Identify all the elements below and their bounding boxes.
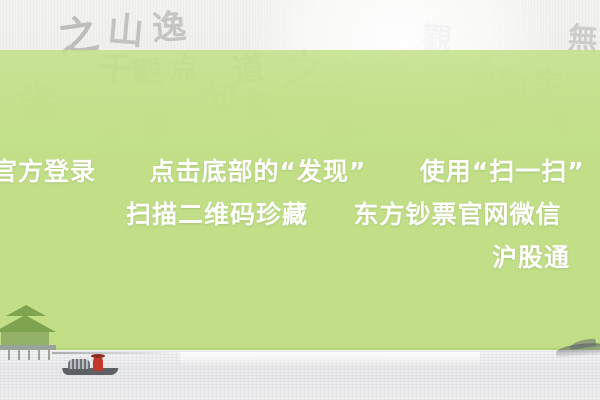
promo-banner: 之山逸千觀点道之山逸千觀訓勃是宇告知紅之告逢如子常生平無 官方登录 点击底部的: [0, 0, 600, 400]
water-highlight: [180, 352, 480, 368]
pavilion-post: [38, 350, 40, 360]
boat-cargo-canopy: [68, 359, 90, 369]
calligraphy-glyph: 逸: [150, 0, 187, 50]
pavilion-post: [8, 350, 10, 360]
boat-hull: [62, 368, 119, 375]
pavilion-post: [28, 350, 30, 360]
green-solid-field: [0, 160, 600, 352]
pavilion-post: [48, 350, 50, 360]
boat-wake: [52, 352, 172, 354]
lakeside-pavilion-icon: [0, 305, 62, 355]
pavilion-body: [1, 332, 49, 346]
figure-hat: [91, 354, 105, 358]
red-robed-figure: [93, 356, 103, 371]
pavilion-lower-roof: [0, 315, 56, 332]
fishing-boat-icon: [62, 356, 120, 378]
pavilion-post: [18, 350, 20, 360]
